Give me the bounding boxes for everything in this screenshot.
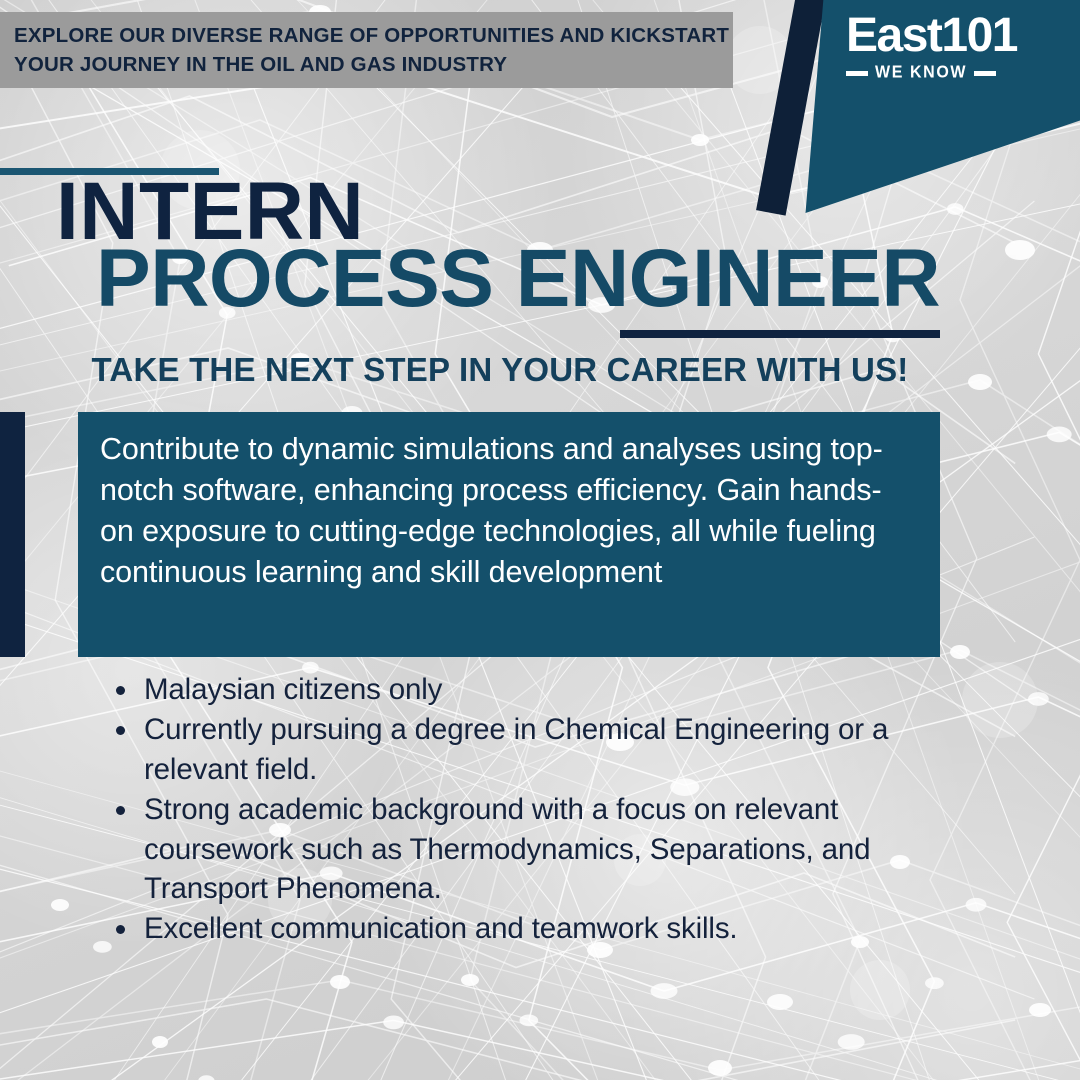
accent-bar-left — [0, 412, 25, 657]
recruitment-poster: EXPLORE OUR DIVERSE RANGE OF OPPORTUNITI… — [0, 0, 1080, 1080]
bullet-icon — [116, 925, 125, 934]
title-bottom-rule — [620, 330, 940, 338]
poster-subtitle: TAKE THE NEXT STEP IN YOUR CAREER WITH U… — [0, 352, 1000, 388]
logo-name-text: East101 — [846, 12, 1036, 60]
header-banner-text: EXPLORE OUR DIVERSE RANGE OF OPPORTUNITI… — [0, 21, 729, 79]
description-panel: Contribute to dynamic simulations and an… — [78, 412, 940, 657]
logo-tagline-row: WE KNOW — [846, 65, 1036, 81]
list-item: Strong academic background with a focus … — [108, 790, 988, 908]
list-item: Currently pursuing a degree in Chemical … — [108, 710, 988, 789]
logo-rule-right-icon — [974, 71, 996, 76]
description-text: Contribute to dynamic simulations and an… — [100, 429, 914, 593]
list-item: Excellent communication and teamwork ski… — [108, 909, 988, 948]
bullet-icon — [116, 726, 125, 735]
list-item-text: Excellent communication and teamwork ski… — [144, 912, 737, 945]
logo-rule-left-icon — [846, 71, 868, 76]
logo-tagline-text: WE KNOW — [875, 64, 967, 82]
job-title-line-2: PROCESS ENGINEER — [96, 237, 940, 321]
requirements-list: Malaysian citizens only Currently pursui… — [108, 670, 988, 950]
list-item-text: Currently pursuing a degree in Chemical … — [144, 713, 888, 785]
brand-logo[interactable]: East101 WE KNOW — [780, 0, 1080, 213]
header-banner: EXPLORE OUR DIVERSE RANGE OF OPPORTUNITI… — [0, 12, 733, 88]
list-item: Malaysian citizens only — [108, 670, 988, 709]
list-item-text: Malaysian citizens only — [144, 673, 442, 706]
bullet-icon — [116, 686, 125, 695]
logo-wordmark: East101 WE KNOW — [846, 12, 1036, 81]
bullet-icon — [116, 806, 125, 815]
list-item-text: Strong academic background with a focus … — [144, 793, 870, 905]
